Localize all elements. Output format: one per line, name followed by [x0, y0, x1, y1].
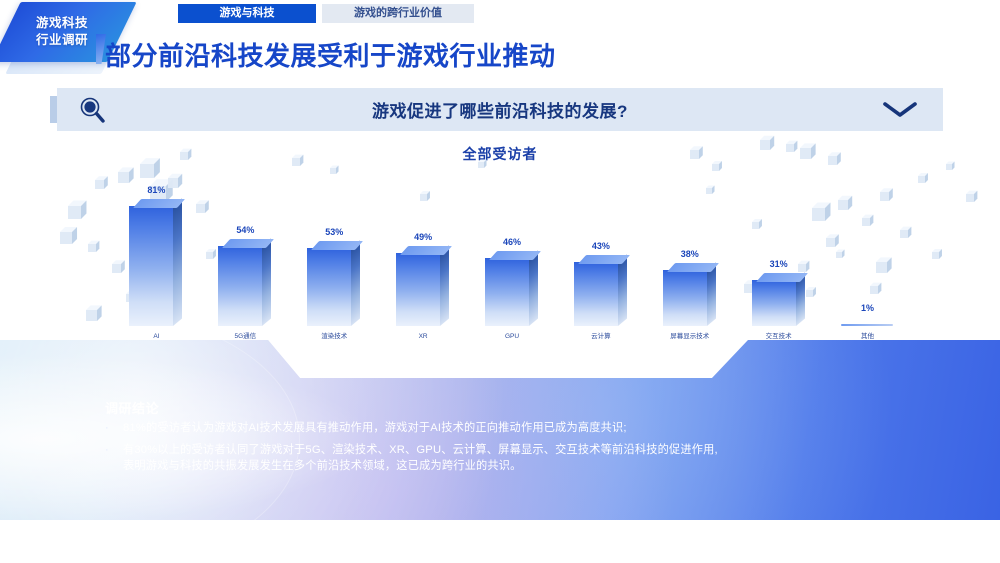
bullet-marker: ·	[105, 420, 123, 436]
bar-category-label: 云计算	[564, 330, 638, 340]
bar-category-label: 交互技术	[742, 330, 816, 340]
conclusion-bullets: ·81%的受访者认为游戏对AI技术发展具有推动作用，游戏对于AI技术的正向推动作…	[105, 420, 915, 480]
cube-icon	[60, 227, 77, 244]
bullet-text-line: 表明游戏与科技的共振发展发生在多个前沿技术领域，这已成为跨行业的共识。	[123, 458, 718, 474]
bar-value-label: 38%	[659, 249, 721, 259]
bar-chart-plot: 81%AI54%5G通信53%渲染技术49%XR46%GPU43%云计算38%屏…	[112, 170, 912, 340]
bar-front-face	[485, 258, 529, 326]
chart-subtitle: 全部受访者	[0, 144, 1000, 164]
bar-category-label: XR	[386, 333, 460, 340]
question-bar[interactable]: 游戏促进了哪些前沿科技的发展?	[57, 88, 943, 131]
bullet-text-line: 有30%以上的受访者认同了游戏对于5G、渲染技术、XR、GPU、云计算、屏幕显示…	[123, 442, 718, 458]
bar-top-face	[489, 251, 541, 260]
cube-icon	[95, 176, 108, 189]
bar-front-face	[396, 253, 440, 326]
cube-icon	[86, 305, 102, 321]
bar-front-face	[841, 324, 893, 326]
bullet-text-line: 81%的受访者认为游戏对AI技术发展具有推动作用，游戏对于AI技术的正向推动作用…	[123, 420, 627, 436]
bar-top-face	[311, 241, 363, 250]
bar-top-face	[578, 255, 630, 264]
bar-top-face	[222, 239, 274, 248]
bar-front-face	[663, 270, 707, 326]
bar-value-label: 31%	[748, 259, 810, 269]
bar-shape	[307, 248, 351, 326]
bar-top-face	[133, 199, 185, 208]
bar-front-face	[307, 248, 351, 326]
slide: 游戏科技 行业调研 游戏与科技 游戏的跨行业价值 部分前沿科技发展受利于游戏行业…	[0, 0, 1000, 563]
bar-shape	[129, 206, 173, 326]
bar-side-face	[618, 254, 627, 326]
logo-line-1: 游戏科技	[36, 15, 88, 32]
cube-icon	[88, 241, 99, 252]
tab-bar: 游戏与科技 游戏的跨行业价值	[178, 4, 474, 23]
cube-icon	[68, 201, 86, 219]
page-title: 部分前沿科技发展受利于游戏行业推动	[105, 36, 556, 73]
bar-shape	[396, 253, 440, 326]
bar-value-label: 53%	[303, 227, 365, 237]
bar-side-face	[262, 238, 271, 326]
bar-value-label: 1%	[837, 303, 899, 313]
bar-value-label: 49%	[392, 232, 454, 242]
bar-category-label: 5G通信	[208, 330, 282, 340]
bar-side-face	[440, 245, 449, 326]
bar-value-label: 43%	[570, 241, 632, 251]
bar-category-label: 其他	[831, 330, 905, 340]
bar-shape	[663, 270, 707, 326]
bar-top-face	[400, 246, 452, 255]
bar-front-face	[218, 246, 262, 326]
bar-top-face	[667, 263, 719, 272]
conclusion-heading: 调研结论	[105, 398, 159, 417]
bullet-marker: ·	[105, 442, 123, 458]
tab-cross-industry-value[interactable]: 游戏的跨行业价值	[322, 4, 474, 23]
bar-top-face	[756, 273, 808, 282]
bar-front-face	[129, 206, 173, 326]
bar-front-face	[752, 280, 796, 326]
bar-category-label: 屏幕显示技术	[653, 330, 727, 340]
bar-category-label: AI	[119, 333, 193, 340]
bullet-text: 有30%以上的受访者认同了游戏对于5G、渲染技术、XR、GPU、云计算、屏幕显示…	[123, 442, 718, 474]
bar-shape	[752, 280, 796, 326]
chart-region: 全部受访者 81%AI54%5G通信53%渲染技术49%XR46%GPU43%云…	[0, 134, 1000, 340]
cube-icon	[918, 173, 928, 183]
bar-category-label: 渲染技术	[297, 330, 371, 340]
cube-icon	[932, 249, 942, 259]
bar-category-label: GPU	[475, 333, 549, 340]
tab-games-and-tech[interactable]: 游戏与科技	[178, 4, 316, 23]
chevron-down-icon[interactable]	[881, 99, 919, 119]
bullet-text: 81%的受访者认为游戏对AI技术发展具有推动作用，游戏对于AI技术的正向推动作用…	[123, 420, 627, 436]
bar-value-label: 46%	[481, 237, 543, 247]
question-text: 游戏促进了哪些前沿科技的发展?	[57, 97, 943, 122]
bar-side-face	[529, 250, 538, 326]
bar-side-face	[173, 198, 182, 326]
bar-front-face	[574, 262, 618, 326]
bar-side-face	[351, 240, 360, 326]
logo-text: 游戏科技 行业调研	[2, 2, 122, 62]
bar-shape	[485, 258, 529, 326]
logo-line-2: 行业调研	[36, 32, 88, 49]
bar-value-label: 54%	[214, 225, 276, 235]
bar-shape	[574, 262, 618, 326]
cube-icon	[966, 191, 977, 202]
conclusion-bullet: ·有30%以上的受访者认同了游戏对于5G、渲染技术、XR、GPU、云计算、屏幕显…	[105, 442, 915, 474]
conclusion-bullet: ·81%的受访者认为游戏对AI技术发展具有推动作用，游戏对于AI技术的正向推动作…	[105, 420, 915, 436]
bar-shape	[841, 324, 885, 326]
bar-shape	[218, 246, 262, 326]
header: 游戏科技 行业调研 游戏与科技 游戏的跨行业价值 部分前沿科技发展受利于游戏行业…	[0, 0, 1000, 80]
bar-value-label: 81%	[125, 185, 187, 195]
